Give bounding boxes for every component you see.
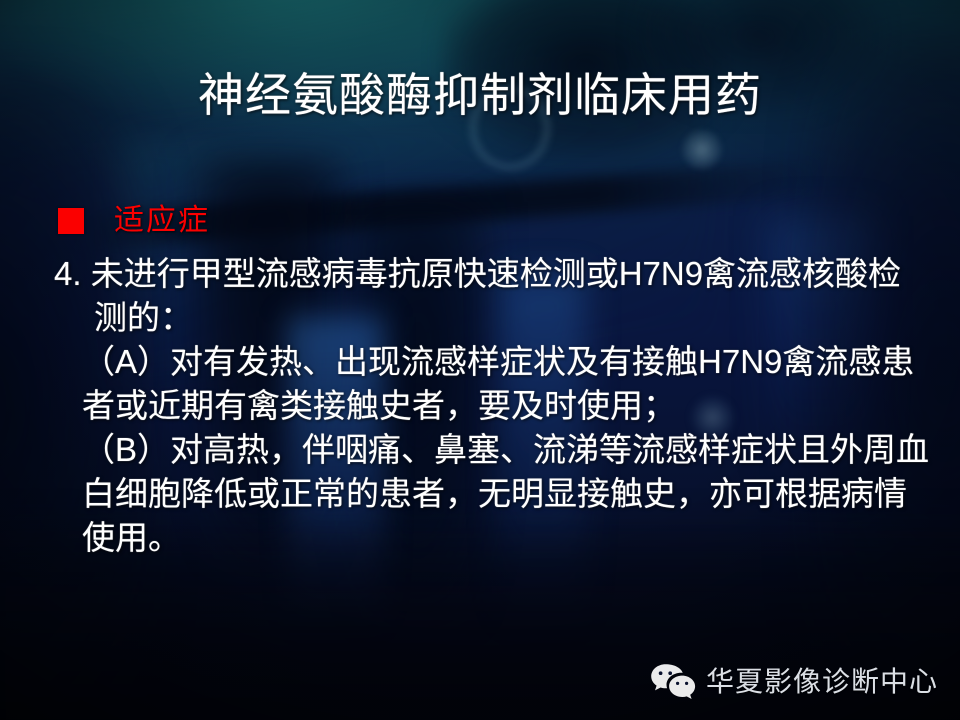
watermark-label: 华夏影像诊断中心	[706, 668, 938, 696]
body-paragraph-item-4b: （B）对高热，伴咽痛、鼻塞、流涕等流感样症状且外周血白细胞降低或正常的患者，无明…	[54, 428, 930, 560]
body-text-block: 4. 未进行甲型流感病毒抗原快速检测或H7N9禽流感核酸检测的： （A）对有发热…	[54, 252, 930, 560]
section-heading: 适应症	[58, 206, 210, 236]
body-paragraph-item-4: 4. 未进行甲型流感病毒抗原快速检测或H7N9禽流感核酸检测的：	[54, 252, 930, 340]
watermark: 华夏影像诊断中心	[650, 662, 938, 702]
slide-title: 神经氨酸酶抑制剂临床用药	[0, 64, 960, 126]
wechat-icon	[650, 662, 696, 702]
presentation-slide: 神经氨酸酶抑制剂临床用药 适应症 4. 未进行甲型流感病毒抗原快速检测或H7N9…	[0, 0, 960, 720]
red-square-bullet-icon	[58, 208, 84, 234]
body-paragraph-item-4a: （A）对有发热、出现流感样症状及有接触H7N9禽流感患者或近期有禽类接触史者，要…	[54, 340, 930, 428]
section-heading-label: 适应症	[114, 206, 210, 236]
slide-content: 神经氨酸酶抑制剂临床用药 适应症 4. 未进行甲型流感病毒抗原快速检测或H7N9…	[0, 0, 960, 720]
